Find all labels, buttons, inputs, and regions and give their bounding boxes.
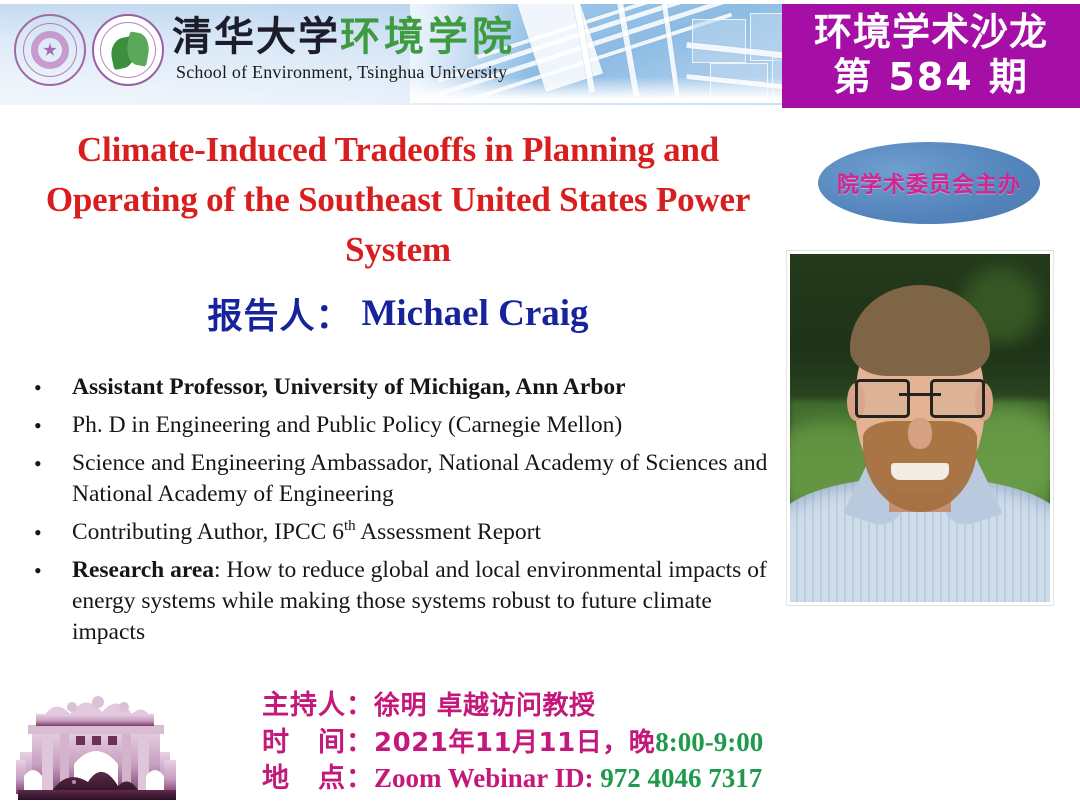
header-top-divider	[0, 0, 1080, 4]
bullet-marker-icon: •	[26, 448, 72, 479]
webinar-label: Zoom Webinar ID:	[374, 763, 600, 793]
list-item-text: Contributing Author, IPCC 6th Assessment…	[72, 517, 774, 548]
eyeglasses-icon	[855, 379, 985, 417]
list-item-text-prefix: Contributing Author, IPCC 6	[72, 519, 344, 545]
time-label: 时 间：	[262, 727, 374, 758]
environment-leaf-icon	[92, 14, 164, 86]
tsinghua-gate-silhouette-icon	[14, 690, 184, 806]
webinar-id-value: 972 4046 7317	[600, 763, 762, 793]
list-item: • Assistant Professor, University of Mic…	[26, 372, 774, 403]
list-item-text: Ph. D in Engineering and Public Policy (…	[72, 410, 774, 441]
bullet-marker-icon: •	[26, 372, 72, 403]
place-label: 地 点：	[262, 763, 374, 794]
list-item-text: Research area: How to reduce global and …	[72, 555, 774, 648]
time-row: 时 间：2021年11月11日，晚8:00-9:00	[262, 724, 1052, 760]
speaker-label: 报告人：	[207, 297, 351, 337]
host-label: 主持人：	[262, 690, 374, 721]
list-item: • Research area: How to reduce global an…	[26, 555, 774, 648]
school-name-cn: 清华大学环境学院	[172, 14, 516, 60]
bullet-marker-icon: •	[26, 517, 72, 548]
bullet-marker-icon: •	[26, 555, 72, 586]
speaker-photo-frame	[786, 250, 1054, 606]
speaker-name: Michael Craig	[361, 293, 588, 334]
time-date-value: 2021年11月11日，晚	[374, 728, 655, 758]
speaker-bio-list: • Assistant Professor, University of Mic…	[26, 372, 774, 655]
series-title: 环境学术沙龙	[814, 10, 1048, 54]
list-item: • Contributing Author, IPCC 6th Assessme…	[26, 517, 774, 548]
list-item-text-bold: Assistant Professor, University of Michi…	[72, 374, 626, 400]
event-details: 主持人：徐明 卓越访问教授 时 间：2021年11月11日，晚8:00-9:00…	[262, 688, 1052, 796]
organizer-badge-label: 院学术委员会主办	[837, 167, 1021, 199]
list-item: • Science and Engineering Ambassador, Na…	[26, 448, 774, 510]
seminar-poster: 清华大学环境学院 School of Environment, Tsinghua…	[0, 0, 1080, 811]
seal-star-icon	[43, 43, 57, 57]
page-title: Climate-Induced Tradeoffs in Planning an…	[22, 125, 774, 275]
university-name-cn: 清华大学	[172, 14, 340, 60]
tsinghua-seal-icon	[14, 14, 86, 86]
series-issue-number: 第 584 期	[833, 54, 1029, 100]
list-item: • Ph. D in Engineering and Public Policy…	[26, 410, 774, 441]
series-banner: 环境学术沙龙 第 584 期	[782, 3, 1080, 108]
list-item-text-suffix: Assessment Report	[356, 519, 541, 545]
research-area-label: Research area	[72, 557, 214, 583]
list-item-text: Assistant Professor, University of Michi…	[72, 372, 774, 403]
time-range-value: 8:00-9:00	[655, 727, 763, 757]
speaker-line: 报告人：Michael Craig	[22, 288, 774, 339]
school-name-green-cn: 环境学院	[340, 14, 516, 60]
list-item-superscript: th	[344, 518, 356, 534]
list-item-text: Science and Engineering Ambassador, Nati…	[72, 448, 774, 510]
host-value: 徐明 卓越访问教授	[374, 691, 596, 721]
place-row: 地 点：Zoom Webinar ID: 972 4046 7317	[262, 760, 1052, 796]
bullet-marker-icon: •	[26, 410, 72, 441]
school-name-en: School of Environment, Tsinghua Universi…	[176, 62, 507, 83]
header-banner: 清华大学环境学院 School of Environment, Tsinghua…	[0, 0, 1080, 108]
speaker-portrait-photo	[790, 254, 1050, 602]
organizer-badge: 院学术委员会主办	[818, 142, 1040, 224]
host-row: 主持人：徐明 卓越访问教授	[262, 688, 1052, 724]
